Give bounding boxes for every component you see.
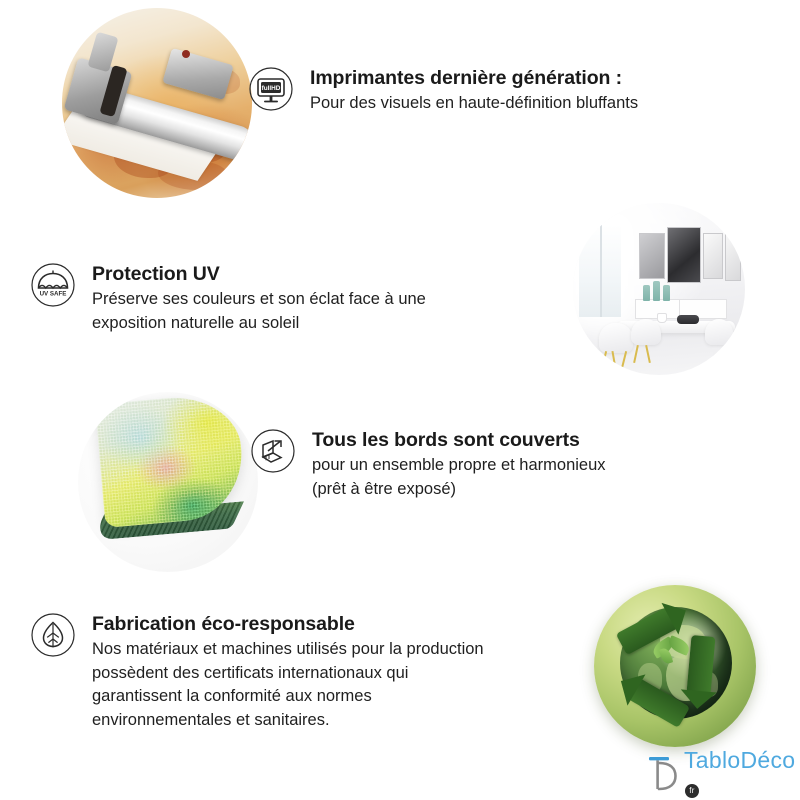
window xyxy=(579,225,621,317)
brand-wordmark: TabloDécofr ™ xyxy=(684,747,795,800)
chair xyxy=(631,319,661,345)
desc-line: Préserve ses couleurs et son éclat face … xyxy=(92,290,426,308)
leaf-icon xyxy=(30,612,76,658)
feature-title: Fabrication éco-responsable xyxy=(92,612,575,636)
recycle-arrow xyxy=(687,635,716,695)
svg-text:fullHD: fullHD xyxy=(262,85,281,92)
chair xyxy=(599,323,633,353)
brand-name: TabloDéco xyxy=(684,747,795,773)
brand-logo[interactable]: TabloDécofr ™ xyxy=(648,752,794,796)
wall-art-panel xyxy=(639,233,665,279)
feature-description: Préserve ses couleurs et son éclat face … xyxy=(92,288,510,335)
white-dining-room-wall-art-photo xyxy=(573,203,745,375)
desc-line: exposition naturelle au soleil xyxy=(92,314,299,332)
canvas-corner-colorful-photo xyxy=(78,392,258,572)
roller-block xyxy=(162,48,233,100)
monitor-fullhd-icon: fullHD xyxy=(248,66,294,112)
wall-art-panel xyxy=(703,233,723,279)
wall-art-panel xyxy=(667,227,701,283)
umbrella-uv-safe-icon: UV SAFE xyxy=(30,262,76,308)
feature-description: pour un ensemble propre et harmonieux(pr… xyxy=(312,454,690,501)
desc-line: possèdent des certificats internationaux… xyxy=(92,664,408,682)
feature-title: Protection UV xyxy=(92,262,510,286)
canvas-wrapped-edge-icon xyxy=(250,428,296,474)
feature-title: Tous les bords sont couverts xyxy=(312,428,690,452)
cup xyxy=(657,313,667,323)
feature-uv-protection: UV SAFE Protection UV Préserve ses coule… xyxy=(30,262,510,335)
feature-description: Nos matériaux et machines utilisés pour … xyxy=(92,638,575,732)
printer-roller-world-map-photo xyxy=(62,8,252,198)
feature-printers: fullHD Imprimantes dernière génération :… xyxy=(248,66,718,116)
td-monogram-icon xyxy=(648,755,680,793)
tld-badge: fr xyxy=(685,784,699,798)
desc-line: (prêt à être exposé) xyxy=(312,480,456,498)
desc-line: Nos matériaux et machines utilisés pour … xyxy=(92,640,484,658)
eco-globe-recycling-photo xyxy=(594,585,756,747)
desc-line: environnementales et sanitaires. xyxy=(92,711,330,729)
feature-description: Pour des visuels en haute-définition blu… xyxy=(310,92,718,115)
feature-covered-edges: Tous les bords sont couverts pour un ens… xyxy=(250,428,690,501)
wall-art-panel xyxy=(725,229,741,281)
promo-infographic: fullHD Imprimantes dernière génération :… xyxy=(0,0,800,800)
roller-indicator xyxy=(182,50,190,58)
desc-line: garantissent la conformité aux normes xyxy=(92,687,372,705)
chair xyxy=(705,319,733,345)
table-object xyxy=(677,315,699,324)
feature-title: Imprimantes dernière génération : xyxy=(310,66,718,90)
feature-eco-manufacturing: Fabrication éco-responsable Nos matériau… xyxy=(30,612,575,732)
svg-text:UV SAFE: UV SAFE xyxy=(40,290,67,297)
desc-line: pour un ensemble propre et harmonieux xyxy=(312,456,606,474)
